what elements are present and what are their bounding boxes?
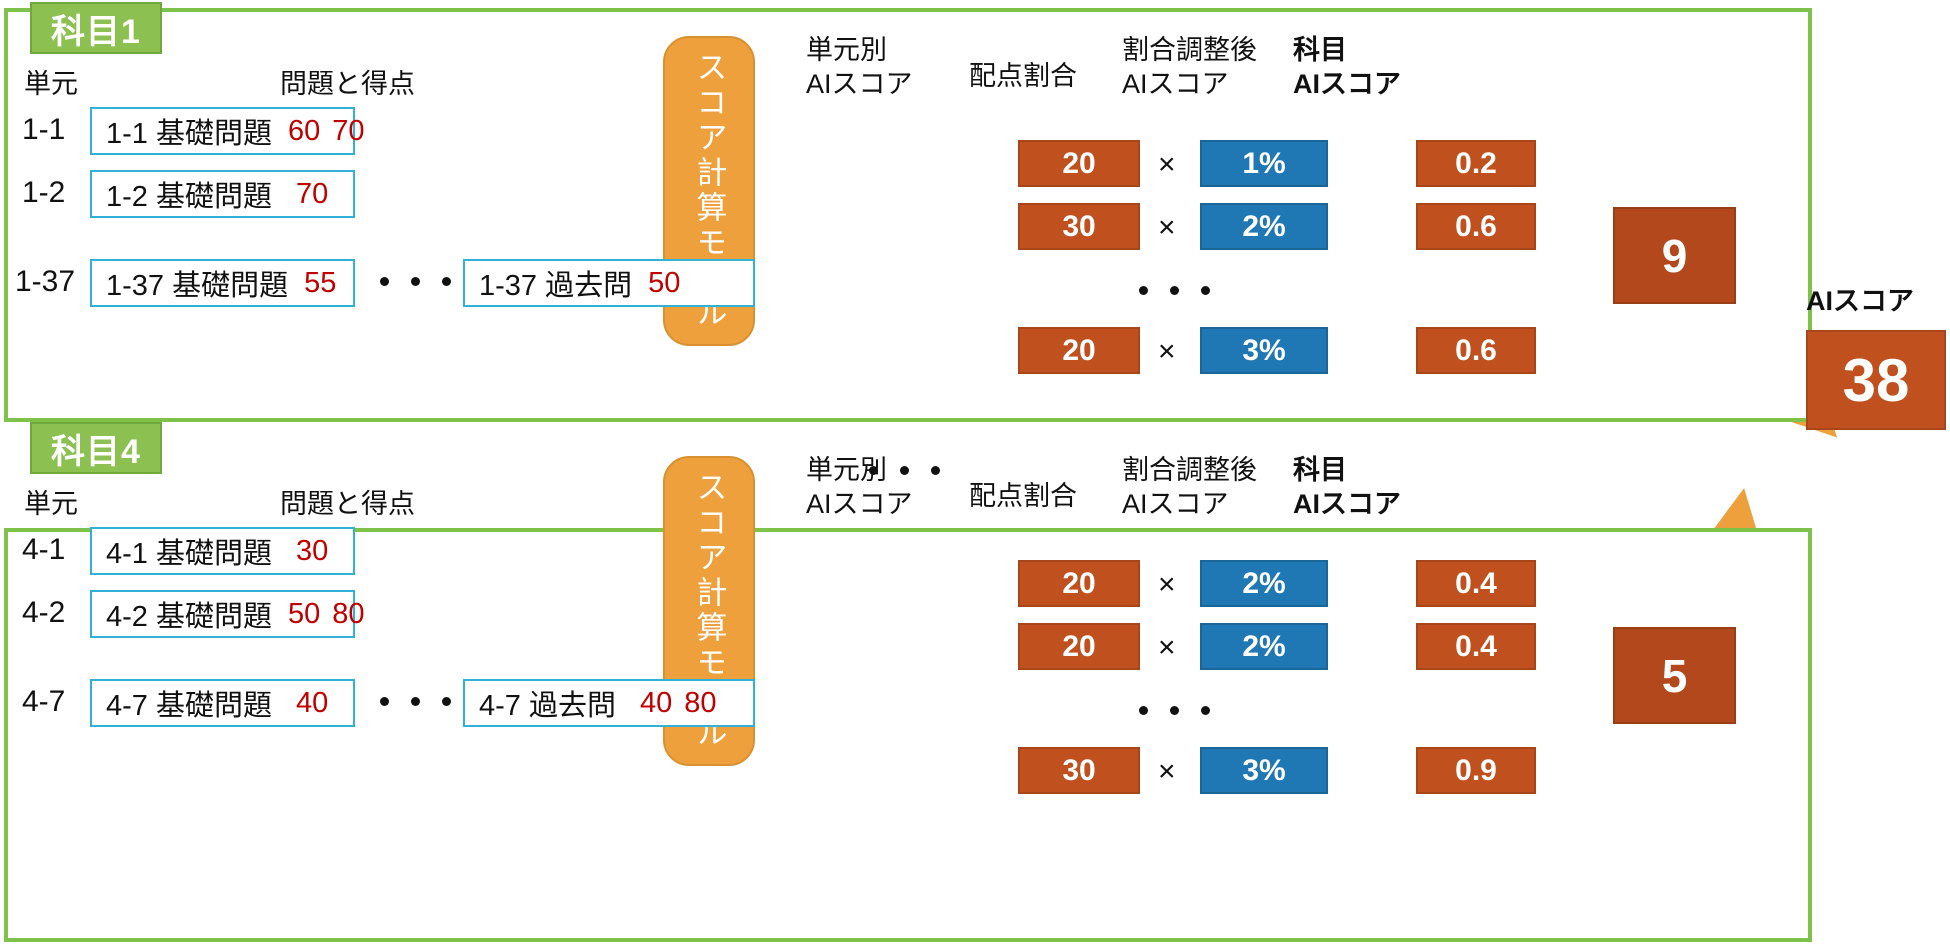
times-sign: × bbox=[1158, 211, 1176, 245]
header-unit-4: 単元 bbox=[24, 488, 78, 522]
times-sign: × bbox=[1158, 631, 1176, 665]
ellipsis-questions-1 bbox=[380, 277, 451, 286]
question-score: 40 bbox=[296, 687, 328, 720]
weight-ratio-chip: 3% bbox=[1200, 327, 1328, 374]
unit-ai-score-chip: 30 bbox=[1018, 203, 1140, 250]
weight-ratio-chip: 3% bbox=[1200, 747, 1328, 794]
adjusted-ai-score-chip: 0.4 bbox=[1416, 560, 1536, 607]
adjusted-ai-score-chip: 0.6 bbox=[1416, 203, 1536, 250]
subject-tab-1: 科目1 bbox=[30, 2, 162, 54]
ellipsis-scores-1 bbox=[1139, 286, 1210, 295]
question-score: 80 bbox=[684, 687, 716, 720]
question-score: 55 bbox=[304, 267, 336, 300]
unit-label: 4-7 bbox=[22, 685, 65, 719]
times-sign: × bbox=[1158, 568, 1176, 602]
times-sign: × bbox=[1158, 335, 1176, 369]
header-questions-4: 問題と得点 bbox=[280, 488, 415, 522]
ellipsis-questions-4 bbox=[380, 697, 451, 706]
question-score: 70 bbox=[332, 115, 364, 148]
weight-ratio-chip: 2% bbox=[1200, 623, 1328, 670]
question-score: 50 bbox=[648, 267, 680, 300]
question-box[interactable]: 4-7 基礎問題 40 bbox=[90, 679, 355, 727]
question-name: 4-2 基礎問題 bbox=[106, 593, 272, 635]
question-score: 40 bbox=[640, 687, 672, 720]
subject-tab-4: 科目4 bbox=[30, 422, 162, 474]
subject-tab-label: 科目1 bbox=[51, 4, 141, 53]
question-name: 1-37 過去問 bbox=[479, 262, 632, 304]
question-score: 80 bbox=[332, 598, 364, 631]
unit-ai-score-chip: 20 bbox=[1018, 560, 1140, 607]
question-box[interactable]: 4-7 過去問 40 80 bbox=[463, 679, 755, 727]
header-subject-ai-score-4: 科目 AIスコア bbox=[1293, 454, 1401, 522]
unit-ai-score-chip: 20 bbox=[1018, 140, 1140, 187]
header-unit-ai-score-1: 単元別 AIスコア bbox=[806, 34, 913, 102]
weight-ratio-chip: 2% bbox=[1200, 560, 1328, 607]
question-box[interactable]: 1-37 基礎問題 55 bbox=[90, 259, 355, 307]
question-score: 30 bbox=[296, 535, 328, 568]
unit-ai-score-chip: 30 bbox=[1018, 747, 1140, 794]
header-adjusted-ai-score-1: 割合調整後 AIスコア bbox=[1122, 34, 1257, 102]
question-name: 4-7 過去問 bbox=[479, 682, 616, 724]
question-box[interactable]: 4-1 基礎問題 30 bbox=[90, 527, 355, 575]
unit-ai-score-chip: 20 bbox=[1018, 327, 1140, 374]
unit-label: 1-1 bbox=[22, 113, 65, 147]
total-ai-score-chip: 38 bbox=[1806, 330, 1946, 430]
question-box[interactable]: 4-2 基礎問題 50 80 bbox=[90, 590, 355, 638]
header-weight-ratio-4: 配点割合 bbox=[969, 480, 1077, 514]
question-score: 50 bbox=[288, 598, 320, 631]
adjusted-ai-score-chip: 0.2 bbox=[1416, 140, 1536, 187]
subject-ai-score-chip: 9 bbox=[1613, 207, 1736, 304]
adjusted-ai-score-chip: 0.6 bbox=[1416, 327, 1536, 374]
header-unit-1: 単元 bbox=[24, 68, 78, 102]
question-box[interactable]: 1-1 基礎問題 60 70 bbox=[90, 107, 355, 155]
times-sign: × bbox=[1158, 755, 1176, 789]
subject-ai-score-chip: 5 bbox=[1613, 627, 1736, 724]
ellipsis-scores-4 bbox=[1139, 706, 1210, 715]
diagram-canvas: 科目1 単元 問題と得点 単元別 AIスコア 配点割合 割合調整後 AIスコア … bbox=[0, 0, 1950, 947]
header-weight-ratio-1: 配点割合 bbox=[969, 60, 1077, 94]
total-ai-score-label: AIスコア bbox=[1806, 285, 1914, 319]
header-questions-1: 問題と得点 bbox=[280, 68, 415, 102]
question-name: 4-1 基礎問題 bbox=[106, 530, 272, 572]
subject-tab-label: 科目4 bbox=[51, 424, 141, 473]
adjusted-ai-score-chip: 0.9 bbox=[1416, 747, 1536, 794]
adjusted-ai-score-chip: 0.4 bbox=[1416, 623, 1536, 670]
unit-label: 1-2 bbox=[22, 176, 65, 210]
header-adjusted-ai-score-4: 割合調整後 AIスコア bbox=[1122, 454, 1257, 522]
question-name: 4-7 基礎問題 bbox=[106, 682, 272, 724]
weight-ratio-chip: 1% bbox=[1200, 140, 1328, 187]
times-sign: × bbox=[1158, 148, 1176, 182]
question-box[interactable]: 1-2 基礎問題 70 bbox=[90, 170, 355, 218]
question-name: 1-1 基礎問題 bbox=[106, 110, 272, 152]
header-unit-ai-score-4: 単元別 AIスコア bbox=[806, 454, 913, 522]
weight-ratio-chip: 2% bbox=[1200, 203, 1328, 250]
header-subject-ai-score-1: 科目 AIスコア bbox=[1293, 34, 1401, 102]
question-name: 1-2 基礎問題 bbox=[106, 173, 272, 215]
unit-label: 4-1 bbox=[22, 533, 65, 567]
unit-label: 1-37 bbox=[15, 265, 75, 299]
question-score: 70 bbox=[296, 178, 328, 211]
unit-label: 4-2 bbox=[22, 596, 65, 630]
unit-ai-score-chip: 20 bbox=[1018, 623, 1140, 670]
question-score: 60 bbox=[288, 115, 320, 148]
question-box[interactable]: 1-37 過去問 50 bbox=[463, 259, 755, 307]
question-name: 1-37 基礎問題 bbox=[106, 262, 288, 304]
